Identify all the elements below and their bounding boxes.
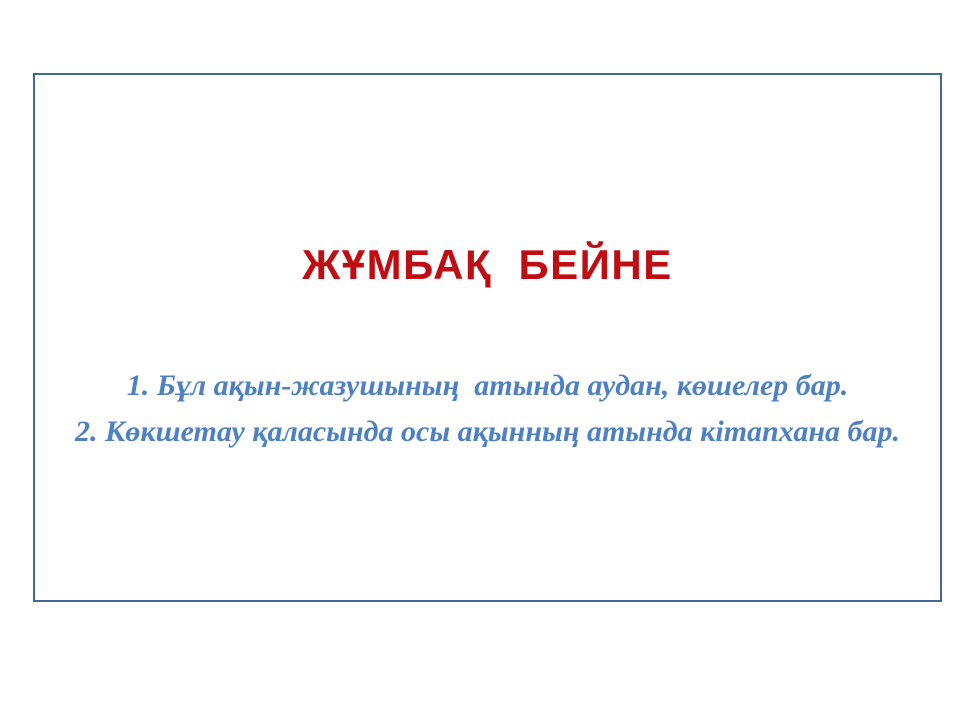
page-title: ЖҰМБАҚ БЕЙНЕ xyxy=(35,242,940,288)
content-frame: ЖҰМБАҚ БЕЙНЕ 1. Бұл ақын-жазушының атынд… xyxy=(33,73,942,602)
riddle-clue-list: 1. Бұл ақын-жазушының атында аудан, көше… xyxy=(35,363,940,455)
list-item: 1. Бұл ақын-жазушының атында аудан, көше… xyxy=(35,363,940,409)
slide-canvas: ЖҰМБАҚ БЕЙНЕ 1. Бұл ақын-жазушының атынд… xyxy=(0,0,960,720)
list-item: 2. Көкшетау қаласында осы ақынның атында… xyxy=(35,409,940,455)
